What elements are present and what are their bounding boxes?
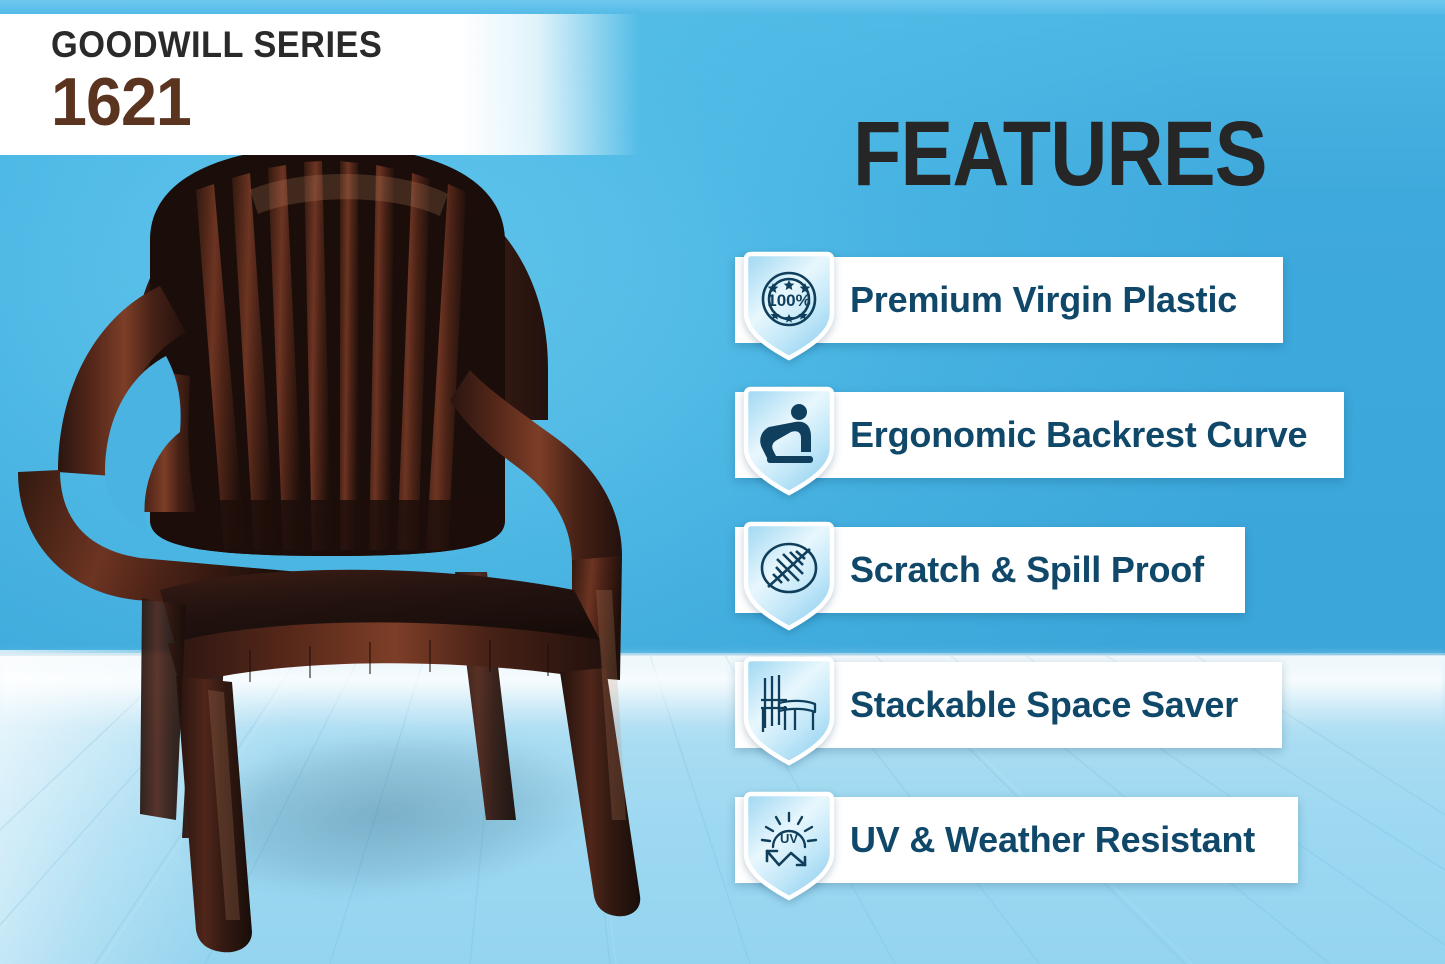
- feature-label: Ergonomic Backrest Curve: [850, 392, 1307, 478]
- product-feature-banner: GOODWILL SERIES 1621 FEATURES 100%: [0, 0, 1445, 964]
- brand-series-label: GOODWILL SERIES: [51, 26, 382, 63]
- svg-text:100%: 100%: [767, 291, 810, 310]
- feature-label: Premium Virgin Plastic: [850, 257, 1237, 343]
- feature-label: Stackable Space Saver: [850, 662, 1238, 748]
- stackable-chair-icon: [743, 656, 835, 766]
- product-model-number: 1621: [51, 68, 191, 136]
- feature-label: Scratch & Spill Proof: [850, 527, 1204, 613]
- feature-label: UV & Weather Resistant: [850, 797, 1255, 883]
- svg-text:UV: UV: [780, 831, 798, 846]
- ergonomic-seated-person-icon: [743, 386, 835, 496]
- hundred-percent-seal-icon: 100%: [743, 251, 835, 361]
- no-scratch-icon: [743, 521, 835, 631]
- uv-sun-resistant-icon: UV: [743, 791, 835, 901]
- top-blue-strip: [0, 0, 1445, 14]
- plastic-armchair-photo: [0, 120, 720, 964]
- features-heading: FEATURES: [853, 108, 1267, 200]
